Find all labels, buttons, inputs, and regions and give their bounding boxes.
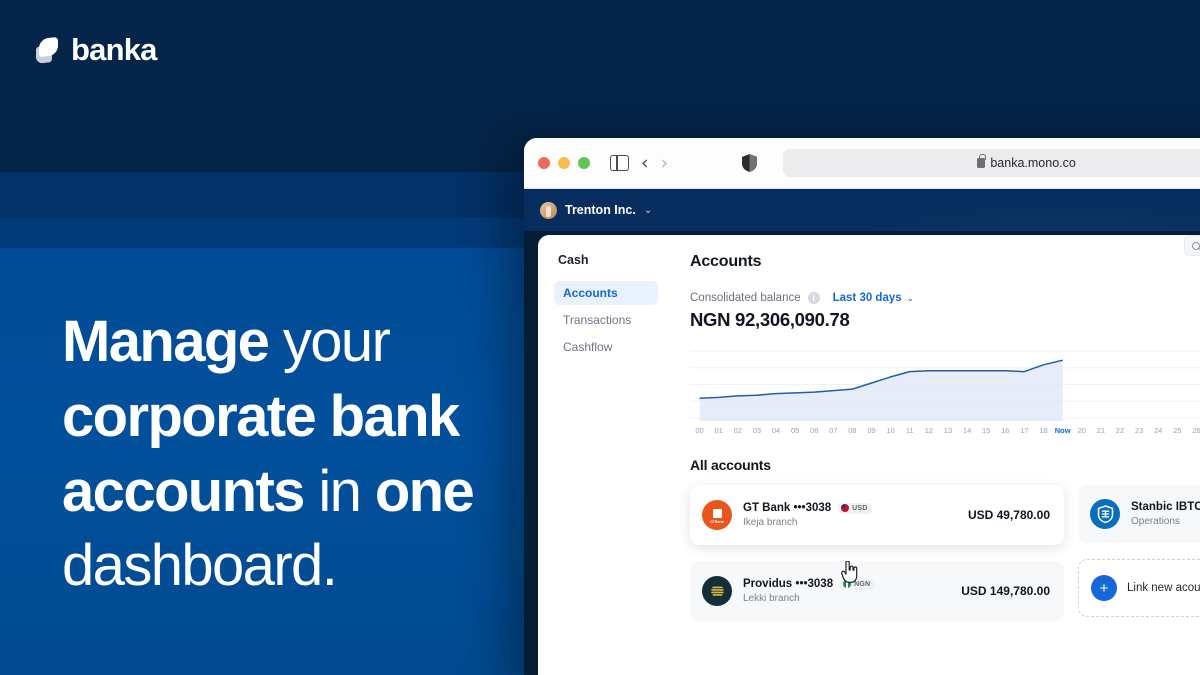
sidebar-item-cashflow[interactable]: Cashflow <box>554 335 658 359</box>
privacy-shield-icon[interactable] <box>742 154 757 172</box>
account-name: GT Bank •••3038 <box>743 502 831 514</box>
app-sidebar: Cash Accounts Transactions Cashflow <box>538 235 686 675</box>
account-branch: Lekki branch <box>743 593 961 604</box>
close-window-button[interactable] <box>538 157 550 169</box>
balance-row: Consolidated balance i Last 30 days ⌄ <box>690 292 1200 304</box>
sidebar-section-title: Cash <box>558 253 674 267</box>
headline-part-3: corporate bank <box>62 384 459 449</box>
account-amount: USD 149,780.00 <box>961 584 1050 598</box>
balance-label: Consolidated balance <box>690 292 801 304</box>
stanbic-logo-icon <box>1090 499 1120 529</box>
chart-tick-15: 15 <box>977 426 996 435</box>
account-name: Providus •••3038 <box>743 578 833 590</box>
gtbank-logo-text: GTBank <box>702 520 732 524</box>
headline-part-6: one <box>375 459 473 524</box>
account-info: Stanbic IBTC ••• Operations <box>1131 501 1200 527</box>
link-new-account-label: Link new acount <box>1127 582 1200 594</box>
account-card-stanbic[interactable]: Stanbic IBTC ••• Operations <box>1078 485 1200 543</box>
account-title-row: GT Bank •••3038 USD <box>743 502 968 514</box>
sidebar-item-transactions[interactable]: Transactions <box>554 308 658 332</box>
headline-part-1: Manage <box>62 309 268 374</box>
providus-logo-icon <box>702 576 732 606</box>
chart-tick-20: 20 <box>1072 426 1091 435</box>
chart-x-axis: 00010203040506070809101112131415161718No… <box>690 426 1200 435</box>
plus-icon: + <box>1091 575 1117 601</box>
chevron-down-icon: ⌄ <box>644 205 652 216</box>
chart-tick-02: 02 <box>728 426 747 435</box>
search-accounts-input[interactable]: Search accounts <box>1184 235 1200 256</box>
account-branch: Ikeja branch <box>743 517 968 528</box>
sidebar-item-accounts[interactable]: Accounts <box>554 281 658 305</box>
chart-tick-10: 10 <box>881 426 900 435</box>
chart-tick-26: 26 <box>1187 426 1200 435</box>
browser-window: ‹ › banka.mono.co ↻ Trenton Inc. ⌄ Home … <box>524 138 1200 675</box>
chart-tick-06: 06 <box>805 426 824 435</box>
accounts-header: All accounts Search accounts <box>690 457 1200 473</box>
accounts-column-right: Stanbic IBTC ••• Operations + Link new a… <box>1078 485 1200 637</box>
chart-tick-now: Now <box>1053 426 1072 435</box>
window-controls[interactable] <box>538 157 590 169</box>
chart-tick-25: 25 <box>1168 426 1187 435</box>
brand-wordmark: banka <box>71 32 157 68</box>
chart-tick-12: 12 <box>919 426 938 435</box>
chart-tick-21: 21 <box>1091 426 1110 435</box>
chart-tick-04: 04 <box>766 426 785 435</box>
maximize-window-button[interactable] <box>578 157 590 169</box>
page-title: Accounts <box>690 253 761 271</box>
chart-tick-08: 08 <box>843 426 862 435</box>
brand-logo[interactable]: banka <box>34 32 157 68</box>
currency-badge: USD <box>838 503 871 514</box>
account-card-providus[interactable]: Providus •••3038 NGN Lekki branch USD 14… <box>690 561 1064 621</box>
org-switcher[interactable]: Trenton Inc. ⌄ <box>540 189 652 231</box>
back-button-icon[interactable]: ‹ <box>641 154 649 173</box>
hero-headline: Manage your corporate bank accounts in o… <box>62 305 502 604</box>
info-icon[interactable]: i <box>808 292 820 304</box>
accounts-title: All accounts <box>690 457 771 473</box>
account-amount: USD 49,780.00 <box>968 508 1050 522</box>
chart-tick-01: 01 <box>709 426 728 435</box>
header-glow <box>804 197 1200 231</box>
link-new-account-button[interactable]: + Link new acount <box>1078 559 1200 617</box>
account-info: GT Bank •••3038 USD Ikeja branch <box>743 502 968 528</box>
chevron-down-icon: ⌄ <box>907 293 915 304</box>
balance-chart-svg <box>690 345 1200 421</box>
usd-flag-icon <box>841 504 849 512</box>
chart-tick-13: 13 <box>938 426 957 435</box>
chart-tick-17: 17 <box>1015 426 1034 435</box>
balance-value: NGN 92,306,090.78 <box>690 309 1200 331</box>
chart-tick-22: 22 <box>1110 426 1129 435</box>
account-card-gtbank[interactable]: GTBank GT Bank •••3038 USD <box>690 485 1064 545</box>
headline-part-4: accounts <box>62 459 304 524</box>
chart-area-fill <box>700 360 1063 421</box>
browser-toolbar: ‹ › banka.mono.co ↻ <box>524 138 1200 189</box>
app-header: Trenton Inc. ⌄ Home Cash Business Financ… <box>524 189 1200 231</box>
page-header: Accounts <box>690 253 1200 271</box>
date-range-label: Last 30 days <box>833 292 902 304</box>
headline-part-2: your <box>268 309 389 374</box>
gtbank-logo-icon: GTBank <box>702 500 732 530</box>
minimize-window-button[interactable] <box>558 157 570 169</box>
chart-tick-09: 09 <box>862 426 881 435</box>
account-name: Stanbic IBTC ••• <box>1131 501 1200 513</box>
chart-tick-23: 23 <box>1130 426 1149 435</box>
chart-tick-18: 18 <box>1034 426 1053 435</box>
accounts-grid: GTBank GT Bank •••3038 USD <box>690 485 1200 637</box>
address-bar[interactable]: banka.mono.co ↻ <box>783 149 1200 177</box>
headline-part-7: dashboard. <box>62 533 336 598</box>
chart-tick-03: 03 <box>747 426 766 435</box>
chart-tick-24: 24 <box>1149 426 1168 435</box>
accounts-column-left: GTBank GT Bank •••3038 USD <box>690 485 1064 637</box>
chart-tick-14: 14 <box>958 426 977 435</box>
currency-code: USD <box>852 505 867 512</box>
hand-pointer-cursor <box>841 561 858 588</box>
app-inner-panel: Cash Accounts Transactions Cashflow Acco… <box>538 235 1200 675</box>
app-body: Cash Accounts Transactions Cashflow Acco… <box>524 231 1200 675</box>
chart-tick-07: 07 <box>824 426 843 435</box>
org-name: Trenton Inc. <box>565 203 636 217</box>
headline-part-5: in <box>304 459 375 524</box>
banka-logo-icon <box>34 35 60 65</box>
forward-button-icon[interactable]: › <box>661 154 669 173</box>
chart-tick-16: 16 <box>996 426 1015 435</box>
account-branch: Operations <box>1131 516 1200 527</box>
app-main: Accounts Consolidated balance i Last 30 … <box>686 235 1200 675</box>
chart-tick-05: 05 <box>786 426 805 435</box>
search-icon <box>1192 242 1200 250</box>
sidebar-toggle-icon[interactable] <box>610 155 629 171</box>
chart-tick-00: 00 <box>690 426 709 435</box>
date-range-selector[interactable]: Last 30 days ⌄ <box>833 292 915 304</box>
chart-tick-11: 11 <box>900 426 919 435</box>
org-avatar <box>540 202 557 219</box>
lock-icon <box>977 158 985 168</box>
balance-chart <box>690 345 1200 421</box>
url-text: banka.mono.co <box>990 156 1075 170</box>
